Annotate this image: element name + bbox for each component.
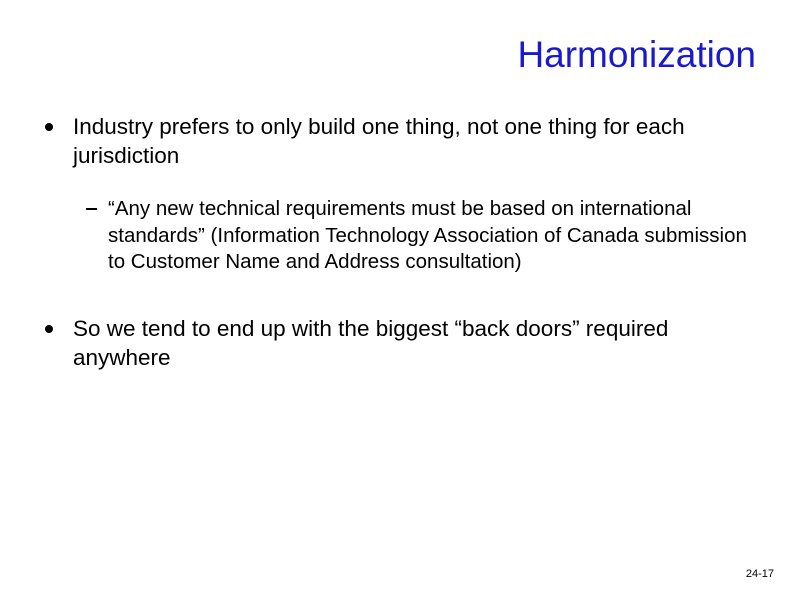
bullet-item-2-text: So we tend to end up with the biggest “b… <box>73 314 756 372</box>
spacer <box>40 276 756 314</box>
bullet-item-2: So we tend to end up with the biggest “b… <box>40 314 756 372</box>
bullet-circle-icon <box>45 325 53 333</box>
sub-bullet-group: “Any new technical requirements must be … <box>40 196 756 276</box>
slide-body: Industry prefers to only build one thing… <box>40 112 756 372</box>
sub-bullet-item-1: “Any new technical requirements must be … <box>80 196 756 276</box>
sub-bullet-item-1-text: “Any new technical requirements must be … <box>108 196 756 276</box>
bullet-circle-icon <box>45 123 53 131</box>
page-number: 24-17 <box>746 567 774 581</box>
page-title: Harmonization <box>40 33 756 77</box>
bullet-item-1: Industry prefers to only build one thing… <box>40 112 756 170</box>
slide: Harmonization Industry prefers to only b… <box>0 0 794 595</box>
bullet-dash-icon <box>86 208 97 210</box>
bullet-item-1-text: Industry prefers to only build one thing… <box>73 112 756 170</box>
